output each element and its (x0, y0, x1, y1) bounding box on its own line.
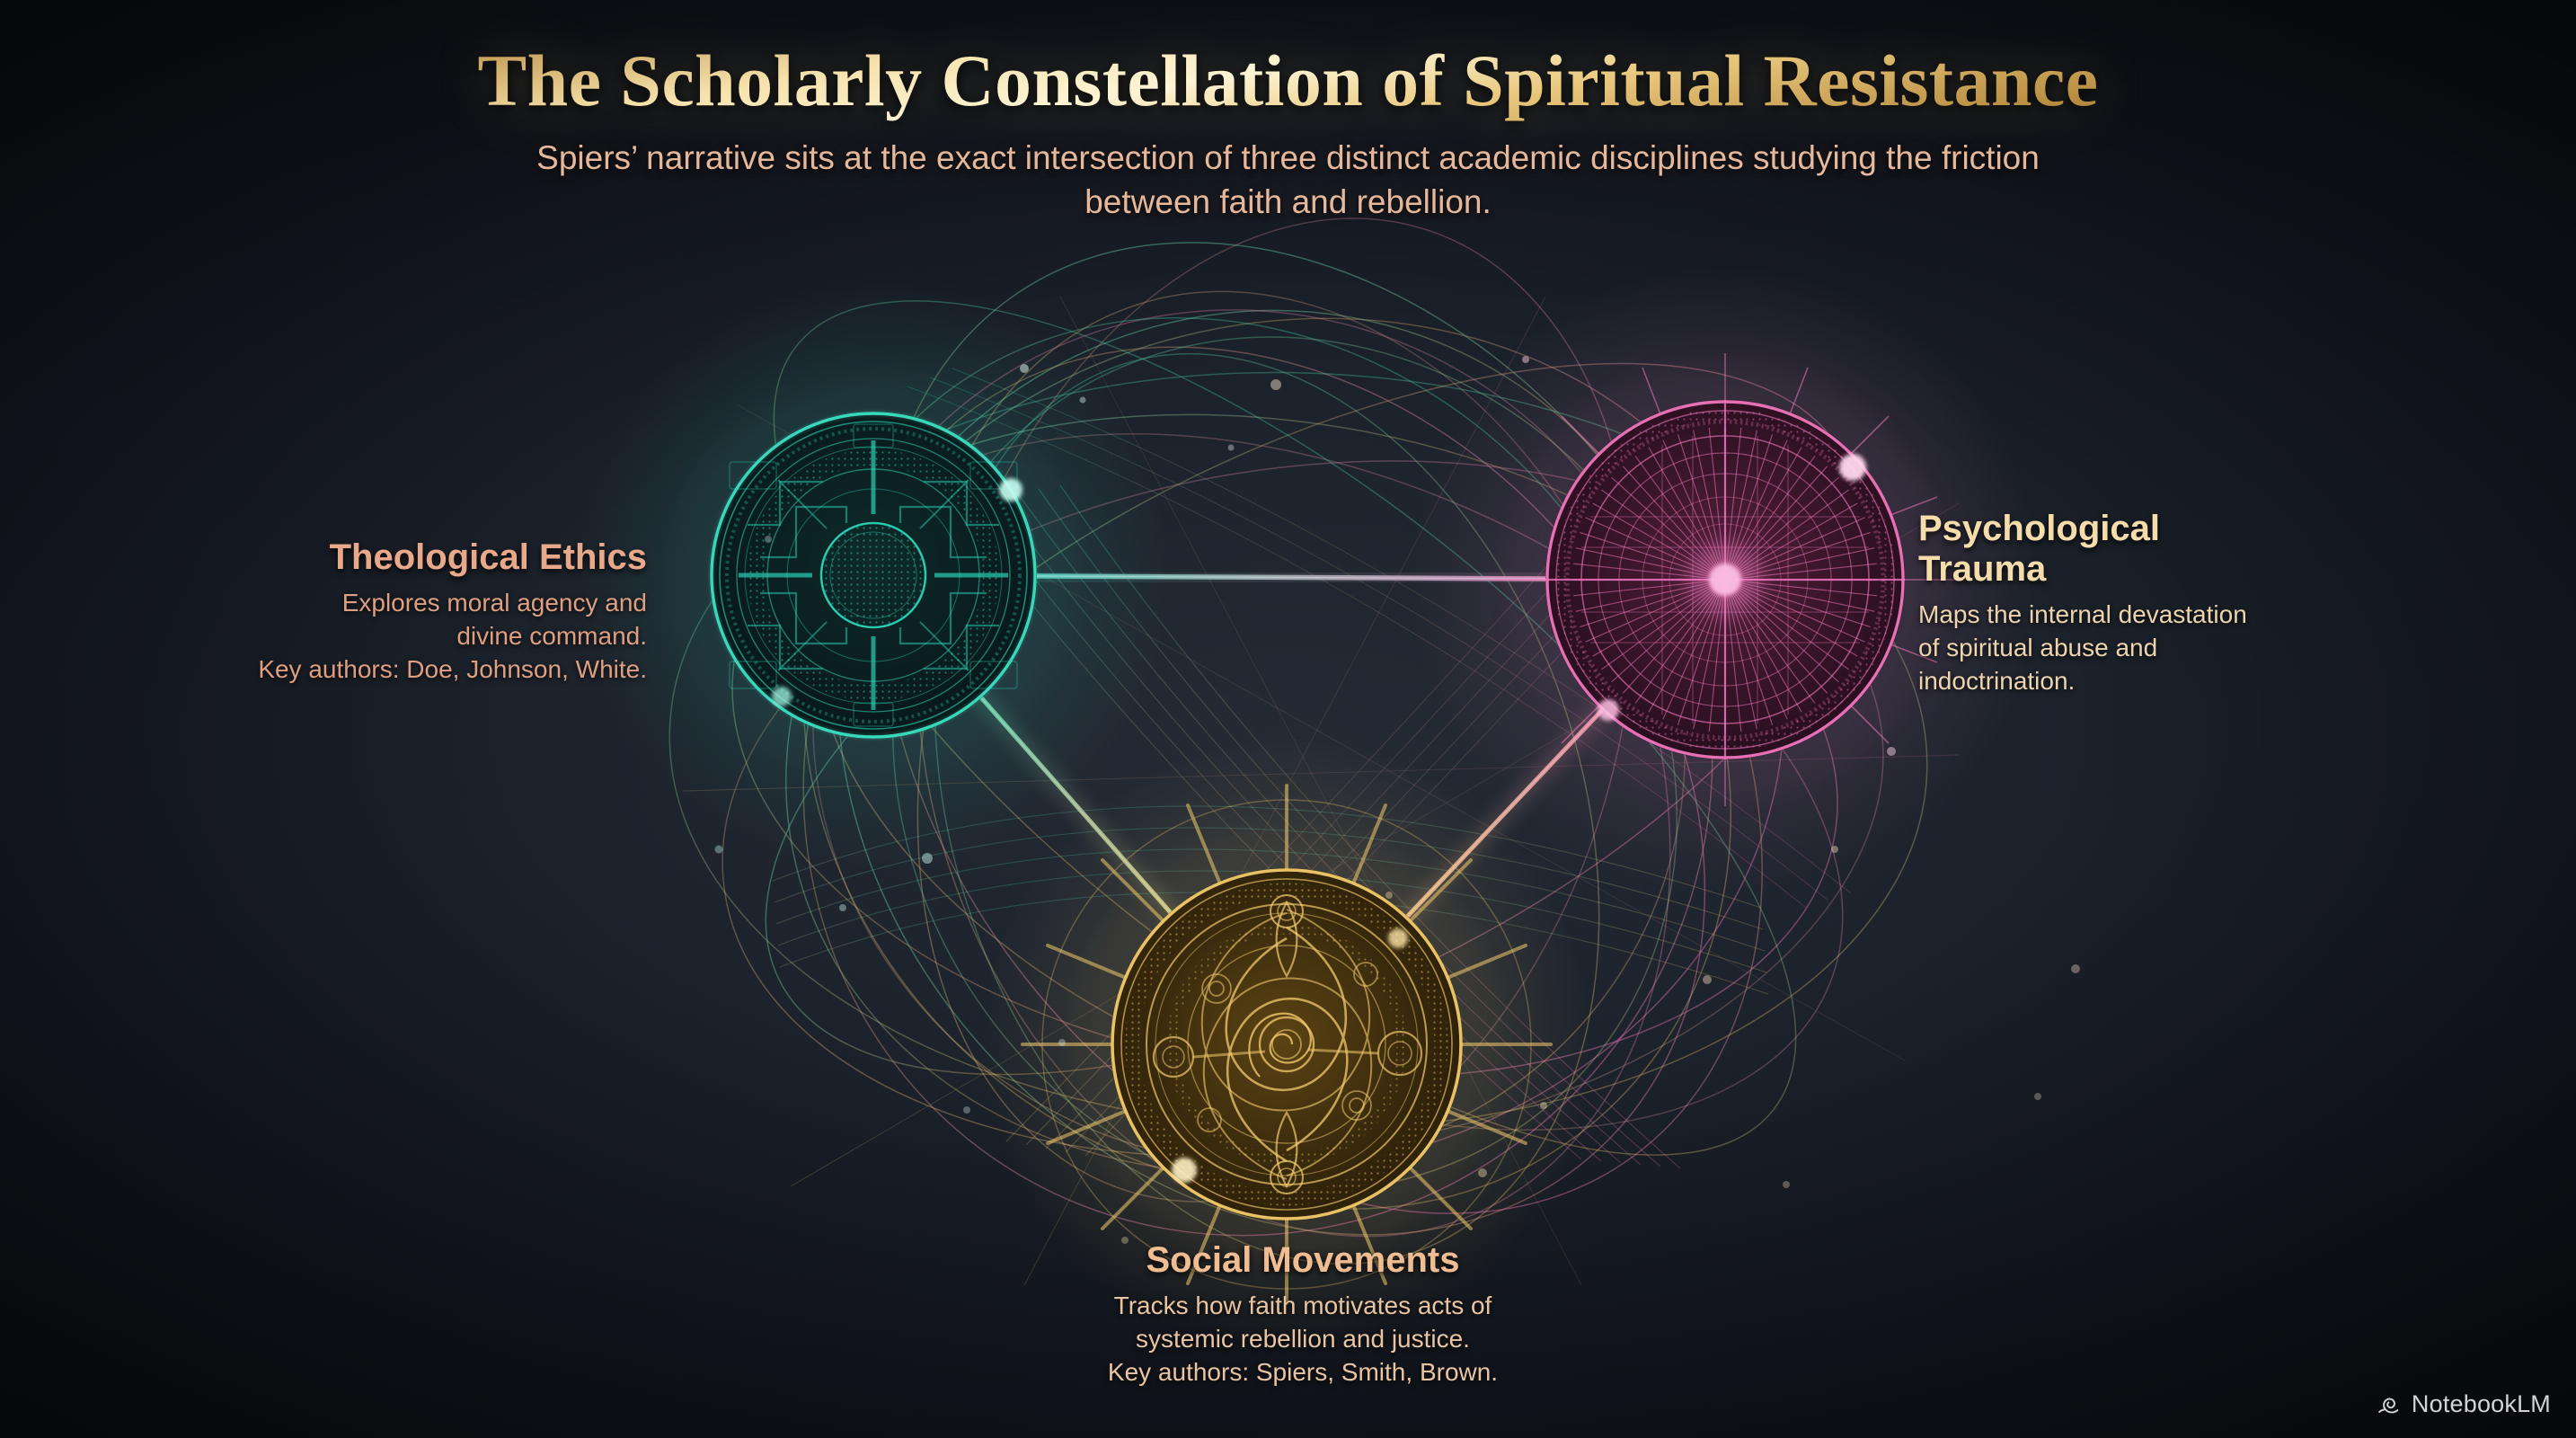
header: The Scholarly Constellation of Spiritual… (0, 41, 2576, 224)
callout-line: of spiritual abuse and (1918, 631, 2457, 664)
subtitle-line-1: Spiers’ narrative sits at the exact inte… (536, 139, 1581, 176)
callout-line: Tracks how faith motivates acts of (979, 1289, 1626, 1322)
callout-title-theological-ethics: Theological Ethics (171, 537, 647, 578)
callout-title-social-movements: Social Movements (979, 1240, 1626, 1281)
callout-line: divine command. (171, 619, 647, 652)
callout-body-theological-ethics: Explores moral agency and divine command… (171, 586, 647, 687)
callout-title-line: Psychological (1918, 509, 2160, 548)
notebooklm-label: NotebookLM (2412, 1390, 2551, 1418)
callout-theological-ethics: Theological Ethics Explores moral agency… (171, 537, 647, 687)
callout-social-movements: Social Movements Tracks how faith motiva… (979, 1240, 1626, 1389)
callout-line: Key authors: Spiers, Smith, Brown. (979, 1355, 1626, 1389)
callout-psychological-trauma: Psychological Trauma Maps the internal d… (1918, 509, 2457, 697)
callout-title-psychological-trauma: Psychological Trauma (1918, 509, 2457, 590)
page-title: The Scholarly Constellation of Spiritual… (0, 41, 2576, 121)
callout-line: Key authors: Doe, Johnson, White. (171, 652, 647, 686)
notebooklm-watermark: NotebookLM (2375, 1390, 2551, 1418)
node-theological-ethics[interactable] (577, 279, 1170, 872)
page-subtitle: Spiers’ narrative sits at the exact inte… (480, 136, 2097, 224)
callout-line: Explores moral agency and (171, 586, 647, 619)
callout-body-social-movements: Tracks how faith motivates acts of syste… (979, 1289, 1626, 1389)
callout-line: indoctrination. (1918, 664, 2457, 697)
notebooklm-spiral-icon (2375, 1391, 2402, 1418)
callout-body-psychological-trauma: Maps the internal devastation of spiritu… (1918, 598, 2457, 698)
callout-line: Maps the internal devastation (1918, 598, 2457, 631)
infographic-canvas: The Scholarly Constellation of Spiritual… (0, 0, 2576, 1438)
callout-title-line: Trauma (1918, 549, 2046, 589)
callout-line: systemic rebellion and justice. (979, 1322, 1626, 1355)
